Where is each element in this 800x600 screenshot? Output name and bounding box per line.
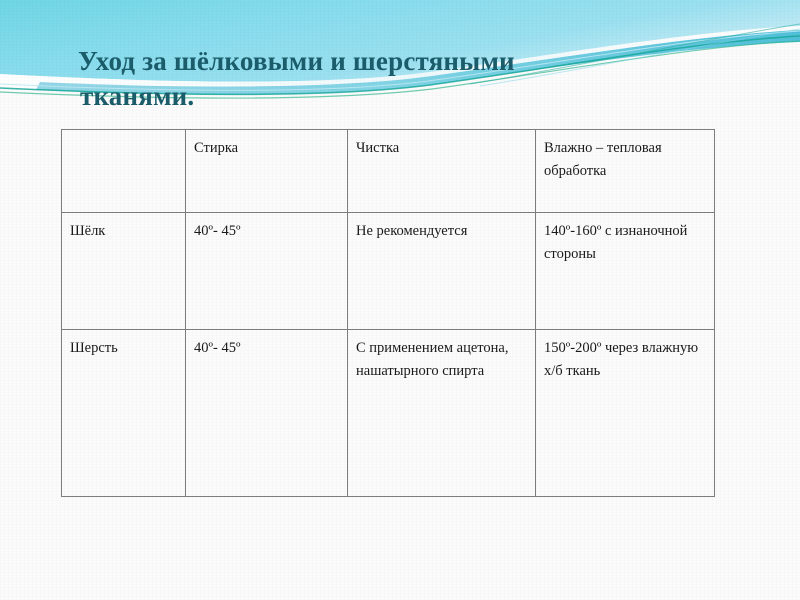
cell-washing-silk: 40º- 45º — [186, 213, 348, 330]
page-title-line-1: Уход за шёлковыми и шерстяными — [78, 46, 515, 76]
page-title: Уход за шёлковыми и шерстяными тканями. — [78, 44, 718, 114]
cell-heat-treatment-silk: 140º-160º с изнаночной стороны — [536, 213, 715, 330]
fabric-care-table: Стирка Чистка Влажно – тепловая обработк… — [61, 129, 715, 497]
slide-canvas: Уход за шёлковыми и шерстяными тканями. … — [0, 0, 800, 600]
table-header-cell-washing: Стирка — [186, 130, 348, 213]
fabric-care-table-container: Стирка Чистка Влажно – тепловая обработк… — [61, 129, 714, 497]
cell-cleaning-wool: С применением ацетона, нашатырного спирт… — [348, 330, 536, 497]
table-row: Шерсть 40º- 45º С применением ацетона, н… — [62, 330, 715, 497]
table-row: Шёлк 40º- 45º Не рекомендуется 140º-160º… — [62, 213, 715, 330]
page-title-line-2: тканями. — [80, 79, 718, 114]
table-header-cell-heat-treatment: Влажно – тепловая обработка — [536, 130, 715, 213]
cell-cleaning-silk: Не рекомендуется — [348, 213, 536, 330]
cell-heat-treatment-wool: 150º-200º через влажную х/б ткань — [536, 330, 715, 497]
cell-fabric-silk: Шёлк — [62, 213, 186, 330]
table-header-row: Стирка Чистка Влажно – тепловая обработк… — [62, 130, 715, 213]
table-header-cell-cleaning: Чистка — [348, 130, 536, 213]
table-header-cell-blank — [62, 130, 186, 213]
cell-fabric-wool: Шерсть — [62, 330, 186, 497]
cell-washing-wool: 40º- 45º — [186, 330, 348, 497]
